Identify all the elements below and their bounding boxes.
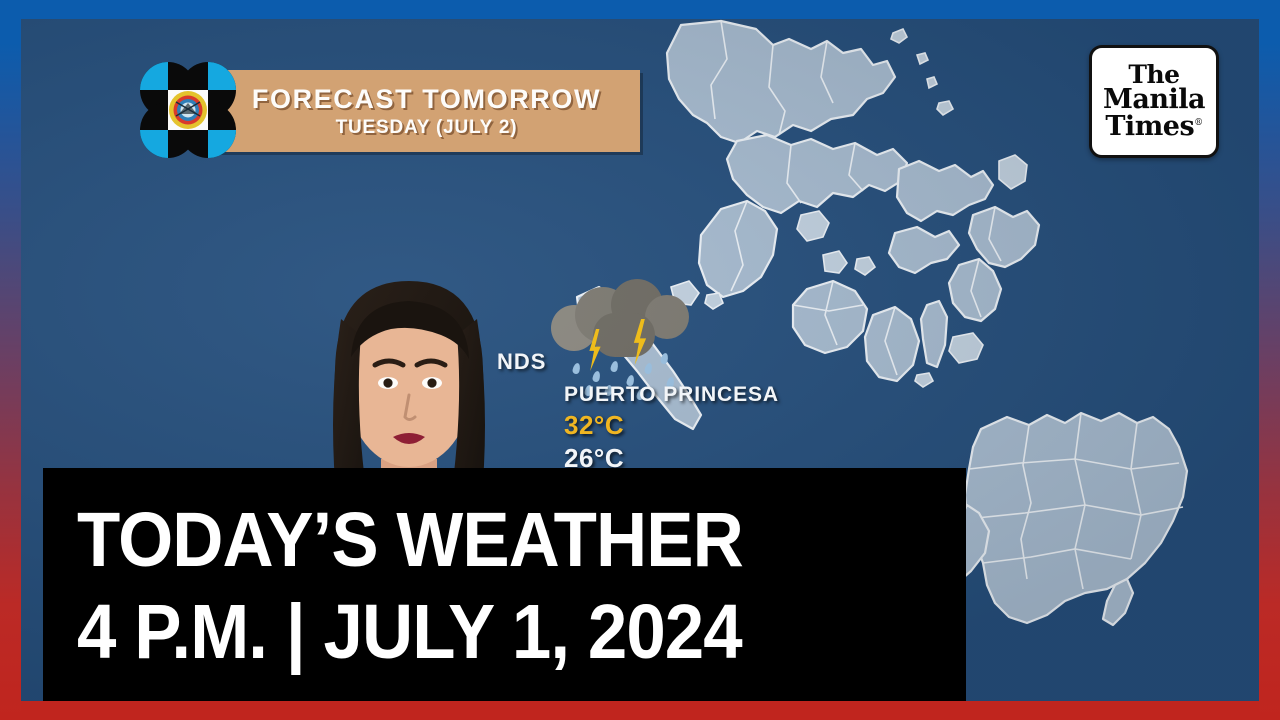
banner-subtitle: TUESDAY (JULY 2) [336, 117, 518, 139]
headline-line-1: TODAY’S WEATHER [77, 494, 867, 586]
city-name-label: PUERTO PRINCESA [564, 383, 779, 407]
city-weather-readout: PUERTO PRINCESA 32°C 26°C [564, 383, 779, 474]
frame-border-bottom [0, 701, 1280, 720]
banner-title: FORECAST TOMORROW [252, 84, 601, 115]
frame-border-top [0, 0, 1280, 19]
logo-line-times: Times [1105, 111, 1194, 142]
broadcast-screenshot: NDS PUERTO PRINCESA 32°C 26°C [0, 0, 1280, 720]
registered-trademark-icon: ® [1194, 118, 1203, 128]
manila-times-logo: The Manila Times® [1089, 45, 1219, 158]
frame-border-right [1259, 0, 1280, 720]
frame-border-left [0, 0, 21, 720]
video-frame: NDS PUERTO PRINCESA 32°C 26°C [21, 19, 1259, 701]
headline-line-2: 4 P.M. | JULY 1, 2024 [77, 586, 867, 678]
temperature-high: 32°C [564, 410, 779, 441]
island-group-label: NDS [497, 349, 546, 375]
pagasa-logo-icon [138, 58, 238, 162]
lower-third-headline: TODAY’S WEATHER 4 P.M. | JULY 1, 2024 [43, 468, 966, 701]
